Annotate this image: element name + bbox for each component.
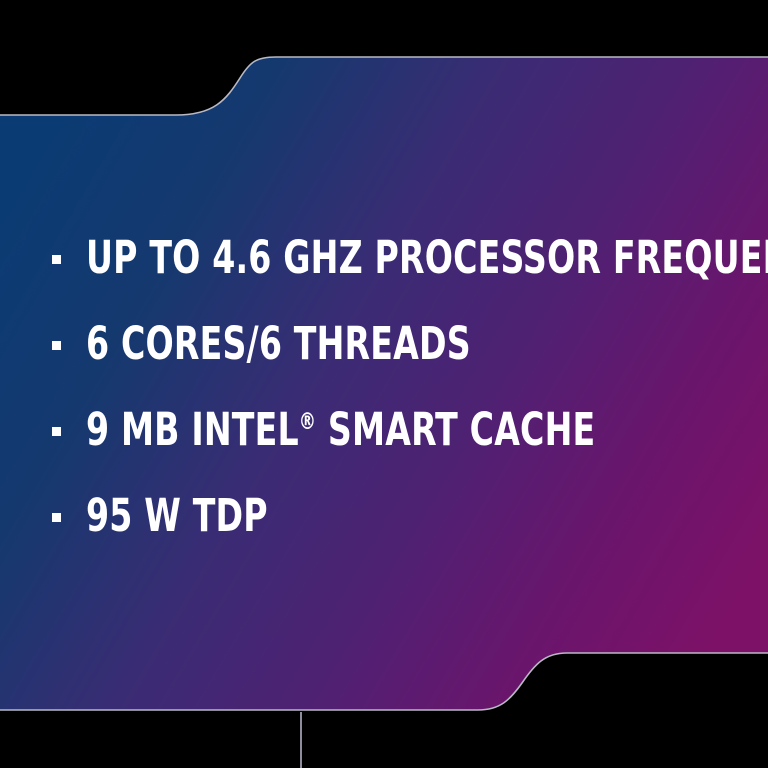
- list-item: UP TO 4.6 GHZ PROCESSOR FREQUENCY2: [52, 214, 752, 300]
- spec-item-tdp: 95 W TDP: [86, 493, 268, 538]
- spec-item-frequency: UP TO 4.6 GHZ PROCESSOR FREQUENCY2: [86, 235, 768, 280]
- spec-list: UP TO 4.6 GHZ PROCESSOR FREQUENCY2 6 COR…: [52, 214, 752, 558]
- spec-label: 9 MB INTEL: [86, 403, 299, 456]
- spec-panel-card: UP TO 4.6 GHZ PROCESSOR FREQUENCY2 6 COR…: [0, 0, 768, 768]
- list-item: 6 CORES/6 THREADS: [52, 300, 752, 386]
- spec-label-suffix: SMART CACHE: [316, 403, 595, 456]
- list-item: 9 MB INTEL® SMART CACHE: [52, 386, 752, 472]
- bullet-square-icon: [52, 513, 61, 522]
- registered-trademark-icon: ®: [299, 407, 316, 435]
- spec-label: 6 CORES/6 THREADS: [86, 317, 471, 370]
- bottom-divider-tick: [300, 712, 302, 768]
- spec-item-smart-cache: 9 MB INTEL® SMART CACHE: [86, 407, 595, 452]
- bullet-square-icon: [52, 427, 61, 436]
- list-item: 95 W TDP: [52, 472, 752, 558]
- spec-label: UP TO 4.6 GHZ PROCESSOR FREQUENCY: [86, 231, 768, 284]
- spec-item-cores-threads: 6 CORES/6 THREADS: [86, 321, 471, 366]
- bullet-square-icon: [52, 341, 61, 350]
- bullet-square-icon: [52, 255, 61, 264]
- spec-label: 95 W TDP: [86, 489, 268, 542]
